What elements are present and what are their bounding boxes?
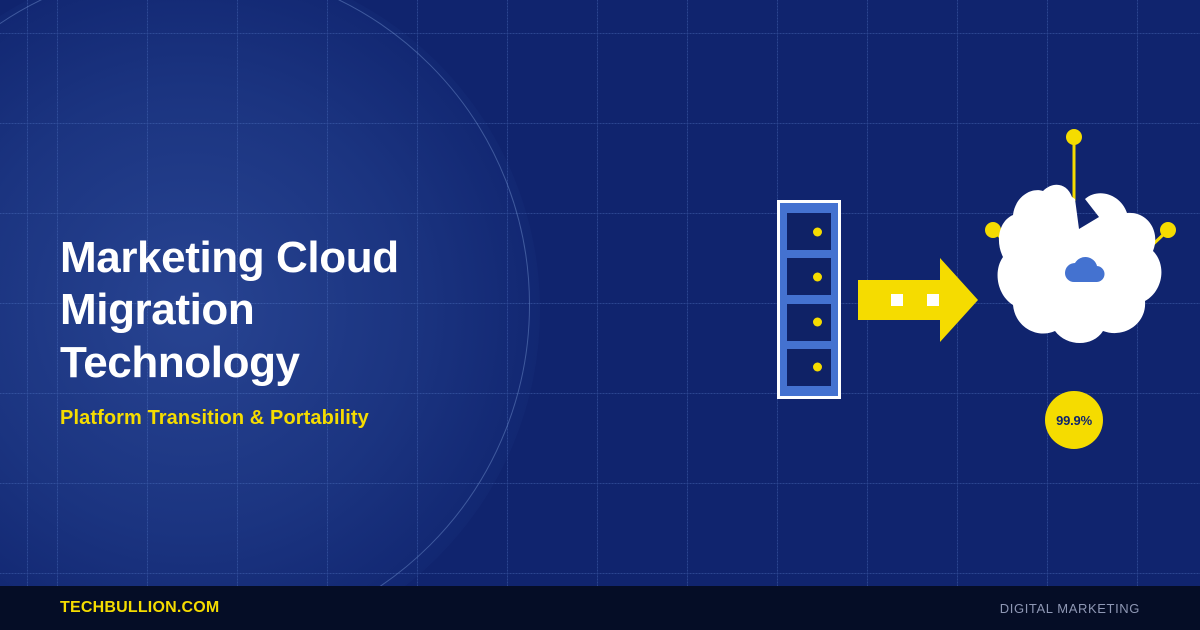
uptime-badge: 99.9% xyxy=(1045,391,1103,449)
rack-slot xyxy=(787,213,831,250)
page-title: Marketing Cloud Migration Technology xyxy=(60,232,580,389)
status-led-icon xyxy=(813,318,822,327)
status-led-icon xyxy=(813,227,822,236)
footer-brand[interactable]: TECHBULLION.COM xyxy=(60,599,219,617)
slide-canvas: Marketing Cloud Migration Technology Pla… xyxy=(0,0,1200,630)
server-rack-icon xyxy=(777,200,841,399)
hero-text-block: Marketing Cloud Migration Technology Pla… xyxy=(60,232,580,430)
status-led-icon xyxy=(813,363,822,372)
rack-slot xyxy=(787,304,831,341)
status-led-icon xyxy=(813,272,822,281)
rack-slot xyxy=(787,349,831,386)
footer-bar: TECHBULLION.COM DIGITAL MARKETING xyxy=(0,586,1200,630)
antenna-top-icon xyxy=(1066,129,1082,201)
migration-arrow-icon xyxy=(858,258,978,342)
rack-slot xyxy=(787,258,831,295)
cloud-graphic xyxy=(975,125,1190,365)
footer-category: DIGITAL MARKETING xyxy=(1000,601,1140,616)
page-subtitle: Platform Transition & Portability xyxy=(60,407,580,430)
